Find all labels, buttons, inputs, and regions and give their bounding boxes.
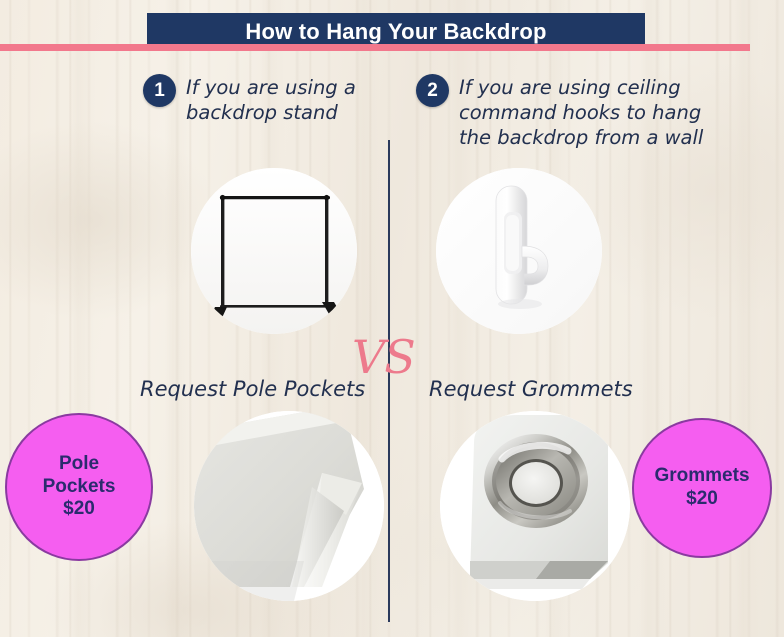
- grommet-photo: [440, 411, 630, 601]
- label-request-grommets: Request Grommets: [429, 377, 633, 401]
- price-bubble-pole-pockets[interactable]: Pole Pockets $20: [5, 413, 153, 561]
- price-bubble-left-line-1: Pole: [43, 453, 116, 476]
- price-bubble-right-text: Grommets $20: [654, 465, 749, 511]
- texture-blotch: [0, 120, 220, 320]
- step-2: 2 If you are using ceiling command hooks…: [416, 74, 736, 151]
- label-request-pole-pockets: Request Pole Pockets: [140, 377, 365, 401]
- command-hook-illustration: [436, 168, 602, 334]
- versus-label: VS: [352, 334, 415, 380]
- infographic-poster: How to Hang Your Backdrop 1 If you are u…: [0, 0, 784, 637]
- price-bubble-right-line-2: $20: [654, 488, 749, 511]
- step-1: 1 If you are using a backdrop stand: [143, 74, 383, 126]
- price-bubble-left-text: Pole Pockets $20: [43, 453, 116, 521]
- backdrop-stand-photo: [191, 168, 357, 334]
- step-2-text: If you are using ceiling command hooks t…: [459, 74, 736, 151]
- page-title: How to Hang Your Backdrop: [245, 19, 546, 45]
- grommet-illustration: [440, 411, 630, 601]
- price-bubble-right-line-1: Grommets: [654, 465, 749, 488]
- pink-divider-rule: [0, 44, 750, 51]
- price-bubble-left-line-3: $20: [43, 498, 116, 521]
- backdrop-stand-illustration: [191, 168, 357, 334]
- step-1-text: If you are using a backdrop stand: [186, 74, 383, 126]
- pole-pocket-illustration: [194, 411, 384, 601]
- price-bubble-left-line-2: Pockets: [43, 476, 116, 499]
- command-hook-photo: [436, 168, 602, 334]
- price-bubble-grommets[interactable]: Grommets $20: [632, 418, 772, 558]
- pole-pocket-photo: [194, 411, 384, 601]
- step-1-number-badge: 1: [143, 74, 176, 107]
- step-2-number-badge: 2: [416, 74, 449, 107]
